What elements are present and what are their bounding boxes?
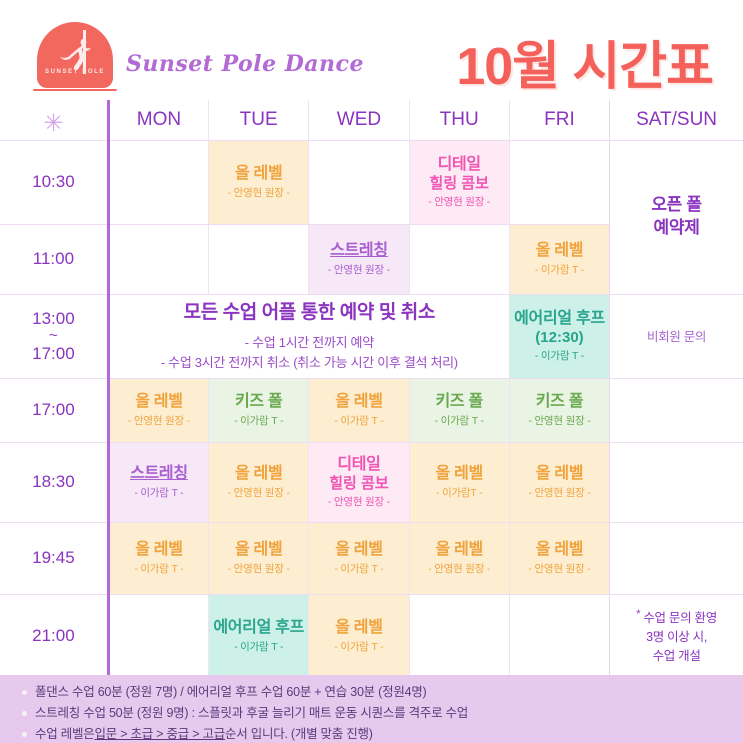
day-header-thu: THU bbox=[409, 100, 509, 140]
note-line3: 수업 개설 bbox=[653, 649, 701, 663]
class-name-line2: 힐링 콤보 bbox=[412, 175, 507, 194]
class-name: 스트레칭 bbox=[112, 464, 206, 484]
time-label-1945: 19:45 bbox=[0, 522, 108, 594]
cell-fri-1030[interactable] bbox=[509, 140, 609, 224]
cell-wed-1945[interactable]: 올 레벨 - 이가람 T - bbox=[309, 522, 409, 594]
class-name: 올 레벨 bbox=[412, 540, 507, 560]
class-name: 디테일 bbox=[311, 455, 406, 475]
class-name: 에어리얼 후프 bbox=[211, 618, 306, 638]
class-teacher: - 이가람 T - bbox=[512, 350, 607, 363]
cell-satsun-1945[interactable] bbox=[610, 522, 743, 594]
day-header-tue: TUE bbox=[209, 100, 309, 140]
cell-thu-2100[interactable] bbox=[409, 594, 509, 678]
time-label-2100: 21:00 bbox=[0, 594, 108, 678]
bullet-icon bbox=[22, 732, 27, 737]
class-name: 에어리얼 후프 bbox=[512, 309, 607, 329]
class-teacher: - 안영현 원장 - bbox=[412, 196, 507, 209]
class-name: 올 레벨 bbox=[512, 540, 607, 560]
cell-tue-1100[interactable] bbox=[209, 224, 309, 294]
footer-level-order: 입문 > 초급 > 중급 > 고급 bbox=[94, 726, 225, 742]
time-label-1830: 18:30 bbox=[0, 442, 108, 522]
table-row-1700: 17:00 올 레벨 - 안영현 원장 - 키즈 폴 - 이가람 T - 올 레 bbox=[0, 378, 743, 442]
class-name: 올 레벨 bbox=[211, 464, 306, 484]
class-name: 디테일 bbox=[412, 155, 507, 175]
day-header-satsun: SAT/SUN bbox=[610, 100, 743, 140]
class-teacher: - 이가람 T - bbox=[211, 641, 306, 654]
logo-underline bbox=[33, 89, 117, 91]
footer-note-3: 수업 레벨은 입문 > 초급 > 중급 > 고급 순서 입니다. (개별 맞춤 … bbox=[22, 726, 743, 742]
table-row-2100: 21:00 에어리얼 후프 - 이가람 T - 올 레벨 - 이가람 T - bbox=[0, 594, 743, 678]
day-header-fri: FRI bbox=[509, 100, 609, 140]
open-pole-line2: 예약제 bbox=[654, 218, 700, 237]
booking-notice: 모든 수업 어플 통한 예약 및 취소 - 수업 1시간 전까지 예약 - 수업… bbox=[108, 294, 509, 378]
class-teacher: - 이가람 T - bbox=[112, 487, 206, 500]
table-row-1830: 18:30 스트레칭 - 이가람 T - 올 레벨 - 안영현 원장 - 디테일 bbox=[0, 442, 743, 522]
cell-mon-1100[interactable] bbox=[108, 224, 208, 294]
legend-star-cell: ✳ bbox=[0, 100, 108, 140]
cell-satsun-class-note[interactable]: * 수업 문의 환영 3명 이상 시, 수업 개설 bbox=[610, 594, 743, 678]
class-name: 올 레벨 bbox=[211, 540, 306, 560]
cell-tue-1945[interactable]: 올 레벨 - 안영현 원장 - bbox=[209, 522, 309, 594]
footer-note-2-text: 스트레칭 수업 50분 (정원 9명) : 스플릿과 후굴 늘리기 매트 운동 … bbox=[35, 705, 468, 721]
class-name: 올 레벨 bbox=[112, 392, 206, 412]
cell-fri-1230-hoop[interactable]: 에어리얼 후프 (12:30) - 이가람 T - bbox=[509, 294, 609, 378]
nonmember-inquiry: 비회원 문의 bbox=[647, 330, 706, 344]
time-end: 17:00 bbox=[32, 344, 75, 363]
sparkle-icon: ✳ bbox=[43, 112, 63, 136]
time-range-tilde: ~ bbox=[0, 328, 107, 345]
open-pole-line1: 오픈 폴 bbox=[651, 195, 701, 214]
table-row-1945: 19:45 올 레벨 - 이가람 T - 올 레벨 - 안영현 원장 - 올 레 bbox=[0, 522, 743, 594]
note-line2: 3명 이상 시, bbox=[646, 630, 707, 644]
footer-note-1: 폴댄스 수업 60분 (정원 7명) / 에어리얼 후프 수업 60분 + 연습… bbox=[22, 684, 743, 700]
cell-thu-1830[interactable]: 올 레벨 - 이가람T - bbox=[409, 442, 509, 522]
poster-header: SUNSET POLE Sunset Pole Dance 10월 시간표 bbox=[0, 0, 743, 100]
class-name: 올 레벨 bbox=[311, 618, 406, 638]
class-name: 올 레벨 bbox=[412, 464, 507, 484]
class-name: 스트레칭 bbox=[311, 241, 406, 261]
class-teacher: - 안영현 원장 - bbox=[512, 563, 607, 576]
footer-note-2: 스트레칭 수업 50분 (정원 9명) : 스플릿과 후굴 늘리기 매트 운동 … bbox=[22, 705, 743, 721]
cell-mon-1830[interactable]: 스트레칭 - 이가람 T - bbox=[108, 442, 208, 522]
studio-logo: SUNSET POLE bbox=[33, 22, 117, 94]
class-name: 올 레벨 bbox=[311, 540, 406, 560]
cell-fri-1945[interactable]: 올 레벨 - 안영현 원장 - bbox=[509, 522, 609, 594]
cell-mon-2100[interactable] bbox=[108, 594, 208, 678]
cell-satsun-open-pole[interactable]: 오픈 폴 예약제 bbox=[610, 140, 743, 294]
table-row-1030: 10:30 올 레벨 - 안영현 원장 - 디테일 힐링 콤보 - 안영현 원장… bbox=[0, 140, 743, 224]
class-teacher: - 안영현 원장 - bbox=[412, 563, 507, 576]
day-header-mon: MON bbox=[108, 100, 208, 140]
class-name: 키즈 폴 bbox=[412, 392, 507, 412]
logo-arch-shape: SUNSET POLE bbox=[37, 22, 113, 88]
cell-wed-1830[interactable]: 디테일 힐링 콤보 - 안영현 원장 - bbox=[309, 442, 409, 522]
class-name: 키즈 폴 bbox=[211, 392, 306, 412]
class-teacher: - 이가람 T - bbox=[311, 415, 406, 428]
class-teacher: - 이가람 T - bbox=[412, 415, 507, 428]
cell-mon-1030[interactable] bbox=[108, 140, 208, 224]
cell-wed-2100[interactable]: 올 레벨 - 이가람 T - bbox=[309, 594, 409, 678]
class-name: 올 레벨 bbox=[512, 241, 607, 261]
footer-note-1-text: 폴댄스 수업 60분 (정원 7명) / 에어리얼 후프 수업 60분 + 연습… bbox=[35, 684, 426, 700]
time-start: 13:00 bbox=[32, 309, 75, 328]
class-teacher: - 이가람 T - bbox=[112, 563, 206, 576]
table-row-1300-1700: 13:00 ~ 17:00 모든 수업 어플 통한 예약 및 취소 - 수업 1… bbox=[0, 294, 743, 378]
notice-line2: - 수업 3시간 전까지 취소 (취소 가능 시간 이후 결석 처리) bbox=[110, 353, 509, 373]
class-teacher: - 이가람 T - bbox=[311, 563, 406, 576]
class-name: 올 레벨 bbox=[512, 464, 607, 484]
cell-fri-1100[interactable]: 올 레벨 - 이가람 T - bbox=[509, 224, 609, 294]
class-name: 키즈 폴 bbox=[512, 392, 607, 412]
time-label-1300-1700: 13:00 ~ 17:00 bbox=[0, 294, 108, 378]
class-name: 올 레벨 bbox=[211, 164, 306, 184]
cell-tue-1700[interactable]: 키즈 폴 - 이가람 T - bbox=[209, 378, 309, 442]
cell-wed-1100[interactable]: 스트레칭 - 안영현 원장 - bbox=[309, 224, 409, 294]
cell-wed-1030[interactable] bbox=[309, 140, 409, 224]
class-teacher: - 안영현 원장 - bbox=[311, 264, 406, 277]
cell-thu-1945[interactable]: 올 레벨 - 안영현 원장 - bbox=[409, 522, 509, 594]
class-teacher: - 안영현 원장 - bbox=[112, 415, 206, 428]
class-teacher: - 안영현 원장 - bbox=[311, 496, 406, 509]
class-time: (12:30) bbox=[512, 329, 607, 348]
class-name: 올 레벨 bbox=[112, 540, 206, 560]
time-label-1030: 10:30 bbox=[0, 140, 108, 224]
cell-mon-1945[interactable]: 올 레벨 - 이가람 T - bbox=[108, 522, 208, 594]
class-teacher: - 이가람 T - bbox=[311, 641, 406, 654]
cell-satsun-1700[interactable] bbox=[610, 378, 743, 442]
cell-tue-1030[interactable]: 올 레벨 - 안영현 원장 - bbox=[209, 140, 309, 224]
class-name-line2: 힐링 콤보 bbox=[311, 475, 406, 494]
table-header-row: ✳ MON TUE WED THU FRI SAT/SUN bbox=[0, 100, 743, 140]
schedule-table: ✳ MON TUE WED THU FRI SAT/SUN 10:30 올 레벨… bbox=[0, 100, 743, 679]
class-teacher: - 안영현 원장 - bbox=[211, 487, 306, 500]
time-label-1100: 11:00 bbox=[0, 224, 108, 294]
class-teacher: - 안영현 원장 - bbox=[512, 487, 607, 500]
cell-tue-1830[interactable]: 올 레벨 - 안영현 원장 - bbox=[209, 442, 309, 522]
cell-thu-1700[interactable]: 키즈 폴 - 이가람 T - bbox=[409, 378, 509, 442]
cell-wed-1700[interactable]: 올 레벨 - 이가람 T - bbox=[309, 378, 409, 442]
cell-mon-1700[interactable]: 올 레벨 - 안영현 원장 - bbox=[108, 378, 208, 442]
notice-title: 모든 수업 어플 통한 예약 및 취소 bbox=[110, 299, 509, 327]
cell-tue-2100[interactable]: 에어리얼 후프 - 이가람 T - bbox=[209, 594, 309, 678]
cell-fri-1700[interactable]: 키즈 폴 - 안영현 원장 - bbox=[509, 378, 609, 442]
class-teacher: - 이가람 T - bbox=[211, 415, 306, 428]
cell-thu-1030[interactable]: 디테일 힐링 콤보 - 안영현 원장 - bbox=[409, 140, 509, 224]
class-name: 올 레벨 bbox=[311, 392, 406, 412]
schedule-poster: SUNSET POLE Sunset Pole Dance 10월 시간표 ✳ … bbox=[0, 0, 743, 743]
cell-satsun-inquiry[interactable]: 비회원 문의 bbox=[610, 294, 743, 378]
day-header-wed: WED bbox=[309, 100, 409, 140]
class-teacher: - 안영현 원장 - bbox=[211, 187, 306, 200]
page-title: 10월 시간표 bbox=[456, 24, 713, 99]
brand-name: Sunset Pole Dance bbox=[126, 51, 364, 77]
footer-notes: 폴댄스 수업 60분 (정원 7명) / 에어리얼 후프 수업 60분 + 연습… bbox=[0, 675, 743, 743]
logo-brand-text: SUNSET POLE bbox=[45, 68, 105, 77]
time-label-1700: 17:00 bbox=[0, 378, 108, 442]
class-teacher: - 안영현 원장 - bbox=[211, 563, 306, 576]
class-teacher: - 이가람 T - bbox=[512, 264, 607, 277]
note-line1: 수업 문의 환영 bbox=[640, 611, 717, 625]
cell-fri-2100[interactable] bbox=[509, 594, 609, 678]
class-teacher: - 안영현 원장 - bbox=[512, 415, 607, 428]
footer-note-3-suffix: 순서 입니다. (개별 맞춤 진행) bbox=[225, 726, 373, 742]
class-teacher: - 이가람T - bbox=[412, 487, 507, 500]
cell-thu-1100[interactable] bbox=[409, 224, 509, 294]
cell-satsun-1830[interactable] bbox=[610, 442, 743, 522]
cell-fri-1830[interactable]: 올 레벨 - 안영현 원장 - bbox=[509, 442, 609, 522]
bullet-icon bbox=[22, 711, 27, 716]
notice-line1: - 수업 1시간 전까지 예약 bbox=[110, 333, 509, 353]
footer-note-3-prefix: 수업 레벨은 bbox=[35, 726, 94, 742]
bullet-icon bbox=[22, 690, 27, 695]
